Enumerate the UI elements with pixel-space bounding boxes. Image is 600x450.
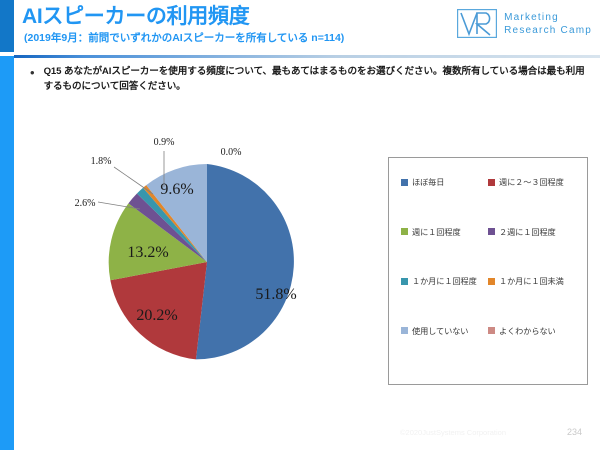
left-accent-bar-top <box>0 0 14 52</box>
question-text: Q15 あなたがAIスピーカーを使用する頻度について、最もあてはまるものをお選び… <box>44 64 590 94</box>
vr-monogram-icon <box>457 9 497 38</box>
pie-label-9-6: 9.6% <box>160 181 193 198</box>
legend-item-shuuni-1kai[interactable]: 週に１回程度 <box>401 226 488 238</box>
legend-item-yoku-wakaranai[interactable]: よくわからない <box>488 325 575 337</box>
legend-item-hobo-mainichi[interactable]: ほぼ毎日 <box>401 176 488 188</box>
copyright-notice: ©2020JustSystems Corporation <box>400 428 506 437</box>
question-block: • Q15 あなたがAIスピーカーを使用する頻度について、最もあてはまるものをお… <box>30 64 590 94</box>
chart-area: 51.8% 20.2% 13.2% 2.6% 1.8% 0.9% 9.6% 0.… <box>0 110 600 410</box>
legend-swatch-icon <box>401 278 408 285</box>
page-number: 234 <box>567 427 582 437</box>
chart-legend: ほぼ毎日 週に２～３回程度 週に１回程度 ２週に１回程度 １か月に１回程度 １か <box>388 157 588 385</box>
pie-label-1-8: 1.8% <box>91 156 112 167</box>
pie-label-13-2: 13.2% <box>127 244 168 261</box>
legend-label: よくわからない <box>499 325 556 337</box>
legend-swatch-icon <box>401 228 408 235</box>
legend-swatch-icon <box>488 278 495 285</box>
pie-label-0-9: 0.9% <box>154 137 175 148</box>
legend-swatch-icon <box>488 228 495 235</box>
legend-grid: ほぼ毎日 週に２～３回程度 週に１回程度 ２週に１回程度 １か月に１回程度 １か <box>401 176 575 374</box>
legend-item-shuuni-2-3kai[interactable]: 週に２～３回程度 <box>488 176 575 188</box>
legend-swatch-icon <box>488 327 495 334</box>
legend-item-shiyou-shiteinai[interactable]: 使用していない <box>401 325 488 337</box>
leader-line-1-8 <box>114 167 153 194</box>
pie-label-20-2: 20.2% <box>136 307 177 324</box>
legend-item-2shuuni-1kai[interactable]: ２週に１回程度 <box>488 226 575 238</box>
pie-label-51-8: 51.8% <box>255 286 296 303</box>
brand-logo-line2: Research Camp <box>504 24 592 37</box>
brand-logo: Marketing Research Camp <box>457 9 592 38</box>
brand-logo-text: Marketing Research Camp <box>504 11 592 37</box>
legend-item-1kagetsuni-1kai[interactable]: １か月に１回程度 <box>401 275 488 287</box>
pie-label-0-0: 0.0% <box>221 147 242 158</box>
legend-label: 週に２～３回程度 <box>499 176 564 188</box>
legend-label: ２週に１回程度 <box>499 226 556 238</box>
pie-chart: 51.8% 20.2% 13.2% 2.6% 1.8% 0.9% 9.6% 0.… <box>52 115 382 395</box>
legend-label: １か月に１回未満 <box>499 275 564 287</box>
legend-swatch-icon <box>401 179 408 186</box>
legend-swatch-icon <box>488 179 495 186</box>
pie-slice-hobo-mainichi[interactable] <box>196 164 294 359</box>
brand-logo-line1: Marketing <box>504 11 592 24</box>
header-divider <box>14 55 600 58</box>
legend-item-1kagetsuni-1kai-miman[interactable]: １か月に１回未満 <box>488 275 575 287</box>
bullet-icon: • <box>30 64 35 94</box>
legend-label: 週に１回程度 <box>412 226 461 238</box>
pie-label-2-6: 2.6% <box>75 198 96 209</box>
legend-swatch-icon <box>401 327 408 334</box>
legend-label: ほぼ毎日 <box>412 176 444 188</box>
legend-label: 使用していない <box>412 325 468 337</box>
pie-slices <box>109 164 294 359</box>
legend-label: １か月に１回程度 <box>412 275 477 287</box>
